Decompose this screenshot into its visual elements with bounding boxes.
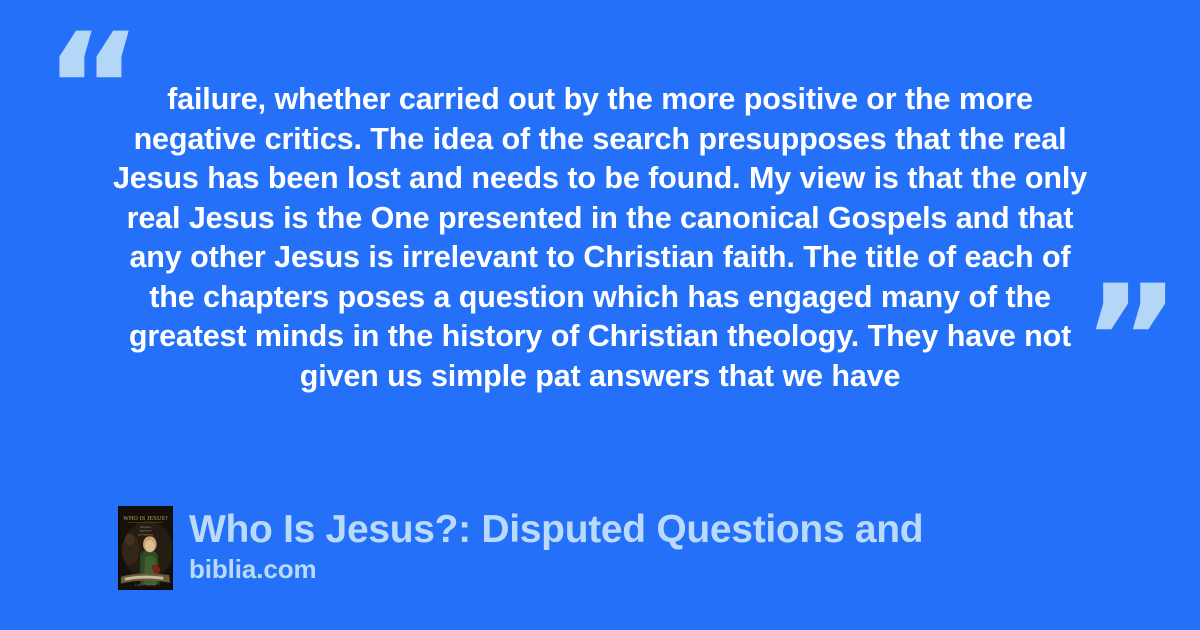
svg-text:WHO IS JESUS?: WHO IS JESUS?	[123, 516, 168, 522]
quote-text: failure, whether carried out by the more…	[110, 80, 1090, 396]
book-title: Who Is Jesus?: Disputed Questions and	[189, 508, 923, 552]
footer-text: Who Is Jesus?: Disputed Questions and bi…	[189, 506, 923, 584]
quote-card: “ ” failure, whether carried out by the …	[0, 0, 1200, 630]
footer: WHO IS JESUS? Disputed Questions and Ans…	[118, 506, 923, 590]
close-quote-icon: ”	[1082, 266, 1181, 416]
site-name: biblia.com	[189, 554, 923, 584]
svg-text:Carl E. Braaten: Carl E. Braaten	[135, 583, 157, 587]
book-cover-thumbnail-icon: WHO IS JESUS? Disputed Questions and Ans…	[118, 506, 173, 590]
svg-text:and Answers: and Answers	[138, 532, 154, 536]
quote-block: failure, whether carried out by the more…	[110, 80, 1090, 396]
